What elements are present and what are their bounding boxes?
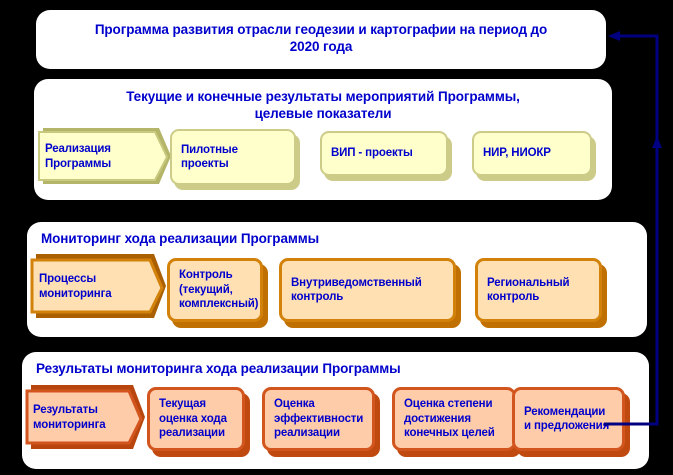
- monitoring-lead-shape[interactable]: Процессы мониторинга: [30, 252, 170, 324]
- program-block-title: Программа развития отрасли геодезии и ка…: [36, 21, 606, 55]
- results-node-efficiency-assessment[interactable]: Оценка эффективности реализации: [262, 387, 375, 451]
- monitoring-results-lead-label: Результаты мониторинга: [33, 403, 105, 432]
- monitoring-results-block-panel: Результаты мониторинга хода реализации П…: [22, 352, 649, 469]
- results-node-recommendations[interactable]: Рекомендации и предложения: [512, 387, 625, 451]
- results-indicators-lead-label: Реализация Программы: [45, 142, 111, 171]
- monitoring-results-lead-shape[interactable]: Результаты мониторинга: [25, 383, 149, 455]
- monitoring-lead-label: Процессы мониторинга: [39, 272, 111, 301]
- monitoring-node-control[interactable]: Контроль (текущий, комплексный): [167, 258, 263, 322]
- results-indicators-block-title: Текущие и конечные результаты мероприяти…: [34, 88, 612, 122]
- results-node-goal-achievement[interactable]: Оценка степени достижения конечных целей: [392, 387, 516, 451]
- monitoring-node-regional-control[interactable]: Региональный контроль: [475, 258, 602, 322]
- results-indicators-lead-shape[interactable]: Реализация Программы: [37, 124, 173, 190]
- monitoring-node-internal-control[interactable]: Внутриведомственный контроль: [279, 258, 456, 322]
- program-block-panel: Программа развития отрасли геодезии и ка…: [36, 10, 606, 69]
- results-node-nir-niokr[interactable]: НИР, НИОКР: [472, 131, 592, 176]
- monitoring-results-block-title: Результаты мониторинга хода реализации П…: [36, 360, 401, 377]
- monitoring-block-title: Мониторинг хода реализации Программы: [41, 230, 319, 247]
- arrowhead-left-icon: [608, 31, 620, 41]
- results-node-vip-projects[interactable]: ВИП - проекты: [320, 131, 448, 176]
- results-indicators-block-panel: Текущие и конечные результаты мероприяти…: [34, 79, 612, 200]
- results-node-pilot-projects[interactable]: Пилотные проекты: [170, 129, 296, 185]
- diagram-canvas: Программа развития отрасли геодезии и ка…: [0, 0, 673, 475]
- monitoring-block-panel: Мониторинг хода реализации Программы Про…: [27, 222, 647, 337]
- results-node-current-assessment[interactable]: Текущая оценка хода реализации: [147, 387, 245, 451]
- arrowhead-up-icon: [652, 136, 662, 148]
